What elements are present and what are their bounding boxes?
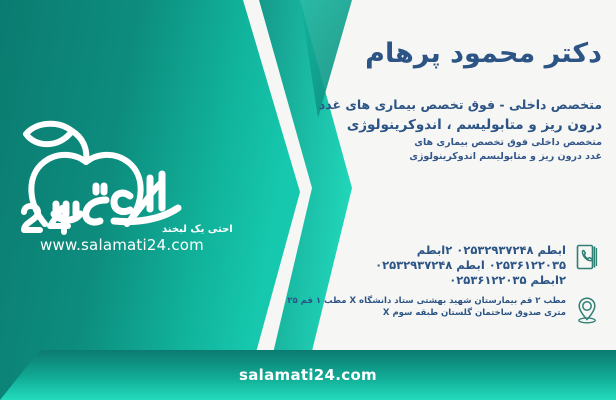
logo-tagline: براحتی یک لبخند	[162, 224, 232, 235]
logo-url: www.salamati24.com	[40, 236, 204, 254]
specialty-line-1: متخصص داخلی - فوق تخصص بیماری های غدد	[292, 97, 602, 114]
footer-bar: salamati24.com	[0, 350, 616, 400]
specialty-line-4: غدد درون ریز و متابولیسم اندوکرینولوژی	[292, 150, 602, 163]
address-row: مطب ۲ قم بیمارستان شهید بهشتی ستاد دانشگ…	[292, 294, 604, 330]
doctor-name: دکتر محمود پرهام	[292, 38, 602, 69]
phone-line-2: ۰۲۵۳۶۱۲۲۰۳۵ ابطم ۰۲۵۳۲۹۳۷۲۴۸	[292, 258, 566, 273]
specialty-line-2: درون ریز و متابولیسم ، اندوکرینولوژی	[292, 116, 602, 134]
phone-book-icon	[572, 242, 602, 278]
phone-lines: ابطم ۰۲۵۳۲۹۳۷۲۴۸ ۲ابطم ۰۲۵۳۶۱۲۲۰۳۵ ابطم …	[292, 242, 566, 289]
address-line-1: مطب ۲ قم بیمارستان شهید بهشتی ستاد دانشگ…	[287, 295, 566, 308]
phone-row: ابطم ۰۲۵۳۲۹۳۷۲۴۸ ۲ابطم ۰۲۵۳۶۱۲۲۰۳۵ ابطم …	[292, 242, 604, 289]
salamati24-logo: براحتی یک لبخند www.salamati24.com	[10, 104, 232, 254]
info-column: دکتر محمود پرهام متخصص داخلی - فوق تخصص …	[276, 0, 616, 400]
contact-block: ابطم ۰۲۵۳۲۹۳۷۲۴۸ ۲ابطم ۰۲۵۳۶۱۲۲۰۳۵ ابطم …	[292, 242, 604, 330]
business-card: براحتی یک لبخند www.salamati24.com دکتر …	[0, 0, 616, 400]
footer-website[interactable]: salamati24.com	[0, 350, 616, 400]
address-line-2: متری صدوق ساختمان گلستان طبقه سوم X	[287, 307, 566, 320]
location-pin-icon	[572, 294, 602, 330]
phone-line-3: ۲ابطم ۰۲۵۳۶۱۲۲۰۳۵	[292, 273, 566, 288]
phone-line-1: ابطم ۰۲۵۳۲۹۳۷۲۴۸ ۲ابطم	[292, 243, 566, 258]
specialty-line-3: متخصص داخلی فوق تخصص بیماری های	[292, 136, 602, 149]
address-lines: مطب ۲ قم بیمارستان شهید بهشتی ستاد دانشگ…	[287, 294, 566, 321]
